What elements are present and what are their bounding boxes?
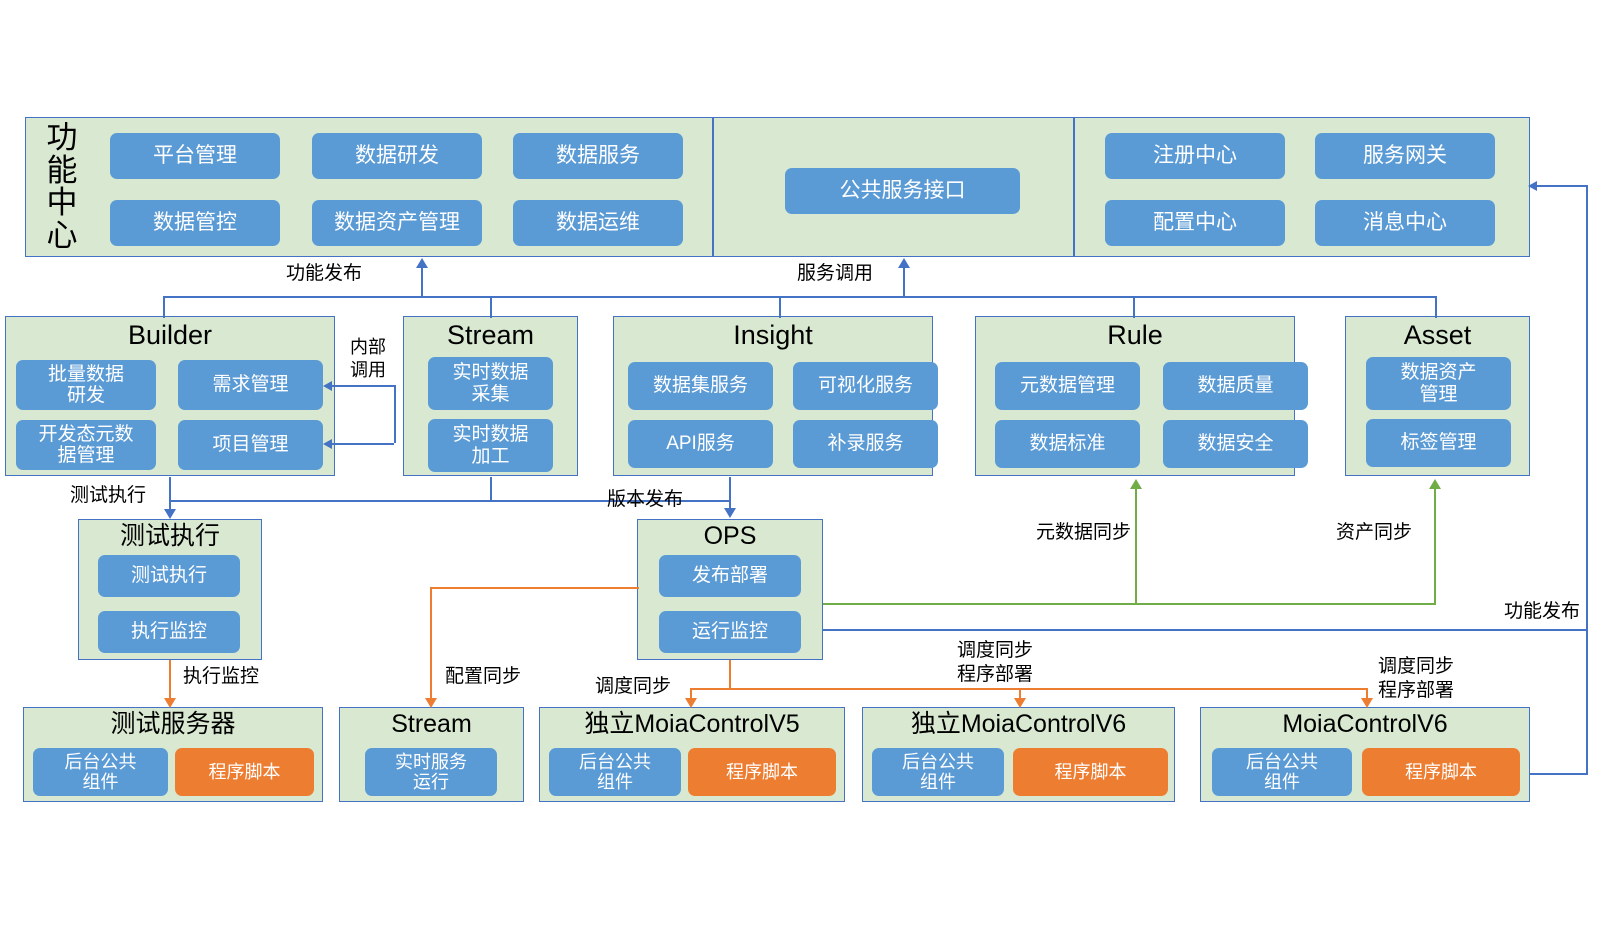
chip-execution-monitor[interactable]: 执行监控 <box>98 611 240 653</box>
test-execution-title: 测试执行 <box>78 524 262 549</box>
architecture-diagram: 功能中心 平台管理 数据研发 数据服务 数据管控 数据资产管理 数据运维 公共服… <box>0 0 1611 940</box>
chip-data-governance[interactable]: 数据管控 <box>110 200 280 246</box>
function-center-divider-2 <box>1073 117 1075 257</box>
asset-sync-v <box>1434 489 1436 603</box>
label-schedule-sync-deploy-mid: 调度同步 程序部署 <box>900 639 1090 687</box>
label-service-call: 服务调用 <box>797 262 873 286</box>
metadata-sync-h <box>823 603 1137 605</box>
metadata-sync-arrow <box>1130 479 1142 489</box>
chip-realtime-service-run[interactable]: 实时服务 运行 <box>365 748 497 796</box>
arrow-head-function-publish <box>416 258 428 268</box>
chip-batch-data-development[interactable]: 批量数据 研发 <box>16 360 156 410</box>
function-center-divider-1 <box>712 117 714 257</box>
chip-backend-common-component-2[interactable]: 后台公共 组件 <box>549 748 681 796</box>
chip-data-standard[interactable]: 数据标准 <box>995 420 1140 468</box>
chip-registry-center[interactable]: 注册中心 <box>1105 133 1285 179</box>
server-moia-v6-title: MoiaControlV6 <box>1200 712 1530 737</box>
test-exec-line-v <box>169 477 171 512</box>
arrow-head-service-call <box>898 258 910 268</box>
internal-call-arrow-2 <box>323 439 332 449</box>
chip-service-gateway[interactable]: 服务网关 <box>1315 133 1495 179</box>
chip-backend-common-component-3[interactable]: 后台公共 组件 <box>872 748 1004 796</box>
right-return-line-bottom-h <box>1530 773 1588 775</box>
version-publish-riser-stream <box>490 477 492 500</box>
riser-insight <box>779 296 781 318</box>
rule-title: Rule <box>975 322 1295 349</box>
chip-tag-management[interactable]: 标签管理 <box>1366 419 1511 467</box>
internal-call-h2 <box>332 443 394 445</box>
ops-orange-trunk-h <box>690 688 1366 690</box>
right-return-arrow <box>1528 181 1537 191</box>
chip-data-asset-management[interactable]: 数据资产管理 <box>312 200 482 246</box>
bus-function-publish <box>163 296 823 298</box>
server-moia-v6-standalone-title: 独立MoiaControlV6 <box>862 712 1175 737</box>
bus-service-call <box>779 296 1435 298</box>
label-test-execute: 测试执行 <box>70 484 146 508</box>
asset-sync-h <box>1135 603 1436 605</box>
label-execute-monitor: 执行监控 <box>183 665 259 689</box>
chip-requirement-management[interactable]: 需求管理 <box>178 360 323 410</box>
chip-data-security[interactable]: 数据安全 <box>1163 420 1308 468</box>
chip-program-script-1[interactable]: 程序脚本 <box>175 748 314 796</box>
arrow-line-function-publish <box>421 268 423 297</box>
chip-metadata-management[interactable]: 元数据管理 <box>995 362 1140 410</box>
chip-release-deploy[interactable]: 发布部署 <box>659 555 801 597</box>
chip-public-service-interface[interactable]: 公共服务接口 <box>785 168 1020 214</box>
chip-project-management[interactable]: 项目管理 <box>178 420 323 470</box>
arrow-line-service-call <box>903 268 905 297</box>
riser-stream <box>490 296 492 318</box>
config-sync-arrow <box>425 698 437 708</box>
asset-sync-arrow <box>1429 479 1441 489</box>
label-metadata-sync: 元数据同步 <box>1036 521 1131 545</box>
chip-api-service[interactable]: API服务 <box>628 420 773 468</box>
insight-title: Insight <box>613 322 933 349</box>
asset-title: Asset <box>1345 322 1530 349</box>
label-asset-sync: 资产同步 <box>1336 521 1412 545</box>
label-internal-call: 内部 调用 <box>337 336 399 381</box>
server-test-title: 测试服务器 <box>23 712 323 737</box>
ops-orange-trunk-v <box>729 660 731 688</box>
riser-asset <box>1435 296 1437 318</box>
chip-data-development[interactable]: 数据研发 <box>312 133 482 179</box>
label-function-publish-top: 功能发布 <box>286 262 362 286</box>
function-center-label: 功能中心 <box>38 122 86 254</box>
chip-backend-common-component-4[interactable]: 后台公共 组件 <box>1212 748 1352 796</box>
chip-program-script-4[interactable]: 程序脚本 <box>1362 748 1520 796</box>
chip-visualization-service[interactable]: 可视化服务 <box>793 362 938 410</box>
chip-runtime-monitor[interactable]: 运行监控 <box>659 611 801 653</box>
chip-data-operations[interactable]: 数据运维 <box>513 200 683 246</box>
chip-platform-management[interactable]: 平台管理 <box>110 133 280 179</box>
chip-dataset-service[interactable]: 数据集服务 <box>628 362 773 410</box>
ops-blue-bus-h <box>823 629 1588 631</box>
chip-realtime-data-collection[interactable]: 实时数据 采集 <box>428 357 553 410</box>
right-return-line-top-h <box>1534 185 1588 187</box>
config-sync-v <box>430 587 432 702</box>
internal-call-v1 <box>394 385 396 443</box>
chip-test-execution[interactable]: 测试执行 <box>98 555 240 597</box>
label-function-publish-right: 功能发布 <box>1400 600 1580 624</box>
chip-data-asset-management-2[interactable]: 数据资产 管理 <box>1366 357 1511 410</box>
label-version-publish: 版本发布 <box>607 488 683 512</box>
chip-supplement-service[interactable]: 补录服务 <box>793 420 938 468</box>
orange-arrow-v5 <box>685 698 697 708</box>
server-moia-v5-title: 独立MoiaControlV5 <box>539 712 845 737</box>
label-config-sync: 配置同步 <box>445 665 521 689</box>
chip-dev-metadata-management[interactable]: 开发态元数 据管理 <box>16 420 156 470</box>
version-publish-riser-insight <box>729 477 731 500</box>
internal-call-h1 <box>332 385 394 387</box>
chip-program-script-3[interactable]: 程序脚本 <box>1013 748 1168 796</box>
builder-title: Builder <box>5 322 335 349</box>
riser-rule <box>1133 296 1135 318</box>
chip-config-center[interactable]: 配置中心 <box>1105 200 1285 246</box>
config-sync-h <box>430 587 639 589</box>
chip-realtime-data-processing[interactable]: 实时数据 加工 <box>428 419 553 472</box>
right-return-line-v <box>1586 185 1588 773</box>
chip-backend-common-component-1[interactable]: 后台公共 组件 <box>33 748 168 796</box>
test-exec-arrow <box>164 509 176 519</box>
orange-arrow-moia-v6 <box>1361 698 1373 708</box>
ops-title: OPS <box>637 524 823 549</box>
version-publish-arrow <box>724 508 736 518</box>
execute-monitor-line <box>169 660 171 702</box>
label-schedule-sync: 调度同步 <box>595 675 671 699</box>
chip-data-service[interactable]: 数据服务 <box>513 133 683 179</box>
metadata-sync-v <box>1135 489 1137 603</box>
server-stream-title: Stream <box>339 712 524 737</box>
label-schedule-sync-deploy-right: 调度同步 程序部署 <box>1378 655 1454 703</box>
chip-message-center[interactable]: 消息中心 <box>1315 200 1495 246</box>
execute-monitor-arrow <box>164 698 176 708</box>
internal-call-arrow-1 <box>323 381 332 391</box>
chip-data-quality[interactable]: 数据质量 <box>1163 362 1308 410</box>
orange-arrow-v6 <box>1014 698 1026 708</box>
chip-program-script-2[interactable]: 程序脚本 <box>688 748 836 796</box>
riser-builder <box>163 296 165 318</box>
stream-platform-title: Stream <box>403 322 578 349</box>
